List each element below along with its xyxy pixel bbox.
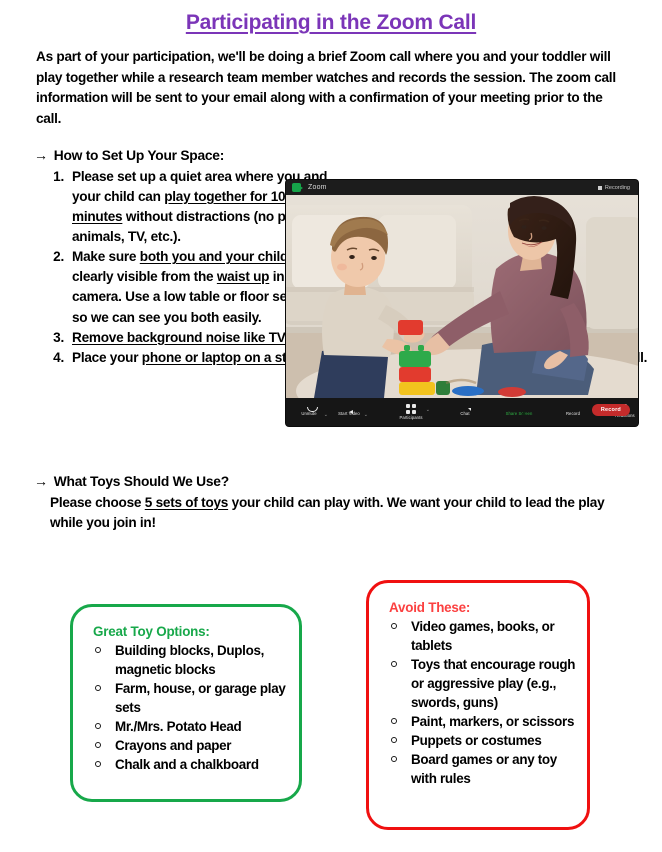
- chevron-down-icon[interactable]: ⌄: [364, 412, 368, 418]
- record-pill-button[interactable]: Record: [592, 404, 630, 416]
- circle-bullet-icon: [95, 761, 101, 767]
- recording-label: Recording: [605, 185, 630, 191]
- zoom-toolbar: Unmute ⌄ Start Video ⌄ Participants ⌄ Ch…: [286, 398, 638, 426]
- participants-icon: [406, 404, 416, 413]
- list-item-label: Paint, markers, or scissors: [411, 714, 574, 729]
- step-number: 2.: [46, 247, 64, 267]
- toolbar-label: Share Screen: [506, 411, 533, 416]
- step-number: 3.: [46, 328, 64, 348]
- zoom-toolbar-share-screen-button[interactable]: Share Screen: [502, 409, 536, 416]
- great-toy-options-box: Great Toy Options: Building blocks, Dupl…: [70, 604, 302, 802]
- toolbar-label: Record: [566, 411, 580, 416]
- circle-bullet-icon: [95, 723, 101, 729]
- avoid-title: Avoid These:: [389, 600, 587, 615]
- zoom-logo-icon: [292, 183, 301, 192]
- circle-bullet-icon: [391, 756, 397, 762]
- list-item-label: Board games or any toy with rules: [411, 752, 557, 786]
- step-text-underline: both you and your child: [140, 249, 288, 264]
- arrow-right-icon: →: [34, 148, 48, 162]
- avoid-these-box: Avoid These: Video games, books, or tabl…: [366, 580, 590, 830]
- list-item: Toys that encourage rough or aggressive …: [389, 655, 577, 712]
- circle-bullet-icon: [391, 623, 397, 629]
- step-text-pre: Make sure: [72, 249, 140, 264]
- list-item: 2.Make sure both you and your child are …: [0, 247, 332, 327]
- list-item-label: Video games, books, or tablets: [411, 619, 554, 653]
- step-number: 4.: [46, 348, 64, 368]
- chevron-down-icon[interactable]: ⌄: [426, 407, 430, 413]
- list-item-label: Crayons and paper: [115, 738, 231, 753]
- zoom-toolbar-chat-button[interactable]: Chat: [448, 409, 482, 416]
- setup-heading-label: How to Set Up Your Space:: [54, 148, 224, 163]
- step-text-underline-2: waist up: [217, 269, 269, 284]
- zoom-toolbar-start-video-button[interactable]: Start Video ⌄: [332, 409, 366, 416]
- list-item: Mr./Mrs. Potato Head: [93, 717, 289, 736]
- arrow-right-icon: →: [34, 474, 48, 488]
- toolbar-label: Participants: [399, 415, 422, 420]
- circle-bullet-icon: [391, 661, 397, 667]
- toys-text-underline: 5 sets of toys: [145, 495, 228, 510]
- great-toys-list: Building blocks, Duplos, magnetic blocks…: [73, 641, 299, 774]
- list-item-label: Chalk and a chalkboard: [115, 757, 259, 772]
- zoom-toolbar-record-button[interactable]: Record: [556, 409, 590, 416]
- list-item-label: Toys that encourage rough or aggressive …: [411, 657, 575, 710]
- intro-part1: As part of your participation, we'll be …: [36, 49, 318, 64]
- circle-bullet-icon: [391, 718, 397, 724]
- intro-bold: brief Zoom call: [318, 49, 411, 64]
- great-toys-title: Great Toy Options:: [93, 624, 299, 639]
- recording-indicator: Recording: [598, 185, 630, 191]
- zoom-toolbar-unmute-button[interactable]: Unmute ⌄: [292, 409, 326, 416]
- list-item: Crayons and paper: [93, 736, 289, 755]
- setup-section-heading: → How to Set Up Your Space:: [34, 148, 662, 163]
- circle-bullet-icon: [95, 647, 101, 653]
- list-item: Building blocks, Duplos, magnetic blocks: [93, 641, 289, 679]
- chevron-down-icon[interactable]: ⌄: [324, 412, 328, 418]
- zoom-title-bar: Zoom Recording: [286, 180, 638, 195]
- avoid-list: Video games, books, or tablets Toys that…: [369, 617, 587, 788]
- document-page: Participating in the Zoom Call As part o…: [0, 0, 662, 852]
- circle-bullet-icon: [391, 737, 397, 743]
- list-item: Farm, house, or garage play sets: [93, 679, 289, 717]
- list-item-label: Puppets or costumes: [411, 733, 541, 748]
- list-item: Board games or any toy with rules: [389, 750, 577, 788]
- list-item: Chalk and a chalkboard: [93, 755, 289, 774]
- recording-dot-icon: [598, 186, 602, 190]
- intro-paragraph: As part of your participation, we'll be …: [36, 47, 626, 130]
- page-title: Participating in the Zoom Call: [0, 11, 662, 35]
- toys-intro-paragraph: Please choose 5 sets of toys your child …: [50, 493, 626, 534]
- toys-text-pre: Please choose: [50, 495, 145, 510]
- step-number: 1.: [46, 167, 64, 187]
- toys-section-heading: → What Toys Should We Use?: [34, 474, 662, 489]
- zoom-toolbar-participants-button[interactable]: Participants ⌄: [394, 404, 428, 420]
- step-text-pre: Place your: [72, 350, 142, 365]
- list-item-label: Mr./Mrs. Potato Head: [115, 719, 241, 734]
- list-item: Puppets or costumes: [389, 731, 577, 750]
- zoom-video-feed: [286, 195, 638, 398]
- toys-heading-label: What Toys Should We Use?: [54, 474, 229, 489]
- zoom-app-name: Zoom: [308, 184, 327, 191]
- video-illustration: [286, 195, 638, 398]
- list-item: Paint, markers, or scissors: [389, 712, 577, 731]
- circle-bullet-icon: [95, 742, 101, 748]
- zoom-window-screenshot: Zoom Recording: [286, 180, 638, 426]
- list-item-label: Farm, house, or garage play sets: [115, 681, 286, 715]
- list-item-label: Building blocks, Duplos, magnetic blocks: [115, 643, 264, 677]
- toolbar-label: Chat: [460, 411, 469, 416]
- list-item: Video games, books, or tablets: [389, 617, 577, 655]
- list-item: 1.Please set up a quiet area where you a…: [0, 167, 332, 247]
- circle-bullet-icon: [95, 685, 101, 691]
